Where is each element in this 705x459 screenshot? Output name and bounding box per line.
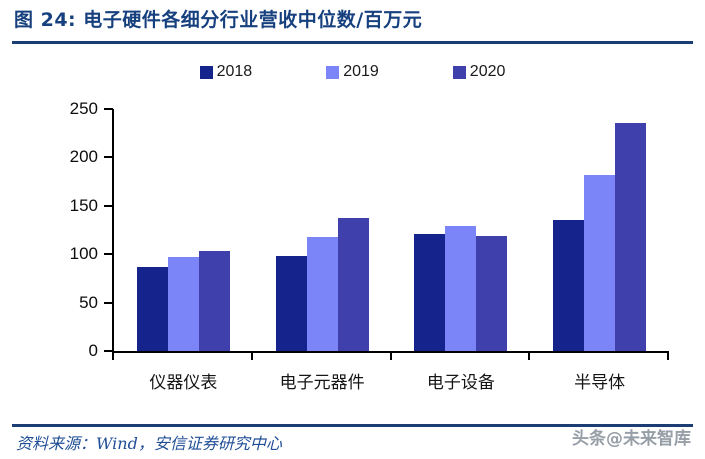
bar-2018-电子设备[interactable] — [414, 234, 445, 351]
bar-group-半导体 — [553, 108, 646, 351]
legend-label: 2020 — [470, 64, 506, 80]
bar-2018-仪器仪表[interactable] — [137, 267, 168, 351]
legend-item-2020[interactable]: 2020 — [453, 64, 506, 80]
chart-plot-area: 050100150200250 — [0, 96, 705, 366]
chart-legend: 201820192020 — [0, 58, 705, 86]
bar-group-电子元器件 — [276, 108, 369, 351]
bar-2018-半导体[interactable] — [553, 220, 584, 351]
x-axis-tick — [112, 352, 114, 360]
bars-layer — [0, 96, 705, 352]
bar-2019-仪器仪表[interactable] — [168, 257, 199, 351]
x-axis-tick — [667, 352, 669, 360]
legend-swatch-icon — [326, 66, 339, 79]
figure-header: 图 24: 电子硬件各细分行业营收中位数/百万元 — [0, 0, 705, 46]
bar-group-仪器仪表 — [137, 108, 230, 351]
legend-item-2019[interactable]: 2019 — [326, 64, 379, 80]
bar-group-电子设备 — [414, 108, 507, 351]
legend-swatch-icon — [453, 66, 466, 79]
x-axis-tick — [390, 352, 392, 360]
legend-item-2018[interactable]: 2018 — [200, 64, 253, 80]
x-axis-label-仪器仪表: 仪器仪表 — [114, 368, 253, 393]
legend-label: 2019 — [343, 64, 379, 80]
bar-2020-仪器仪表[interactable] — [199, 251, 230, 351]
bar-2020-半导体[interactable] — [615, 123, 646, 351]
title-divider — [12, 41, 693, 44]
legend-label: 2018 — [217, 64, 253, 80]
x-axis-tick — [528, 352, 530, 360]
bar-2020-电子设备[interactable] — [476, 236, 507, 351]
legend-swatch-icon — [200, 66, 213, 79]
bar-2019-电子元器件[interactable] — [307, 237, 338, 351]
bar-2019-电子设备[interactable] — [445, 226, 476, 351]
x-axis-label-电子设备: 电子设备 — [392, 368, 531, 393]
watermark-label: 头条@未来智库 — [572, 424, 691, 449]
x-axis-tick — [251, 352, 253, 360]
x-axis-label-半导体: 半导体 — [530, 368, 669, 393]
page-title: 图 24: 电子硬件各细分行业营收中位数/百万元 — [14, 5, 422, 32]
bar-2020-电子元器件[interactable] — [338, 218, 369, 351]
bar-2018-电子元器件[interactable] — [276, 256, 307, 351]
x-axis-label-电子元器件: 电子元器件 — [253, 368, 392, 393]
bar-2019-半导体[interactable] — [584, 175, 615, 351]
x-axis-category-labels: 仪器仪表电子元器件电子设备半导体 — [0, 368, 705, 402]
source-note: 资料来源：Wind，安信证券研究中心 — [16, 430, 282, 454]
